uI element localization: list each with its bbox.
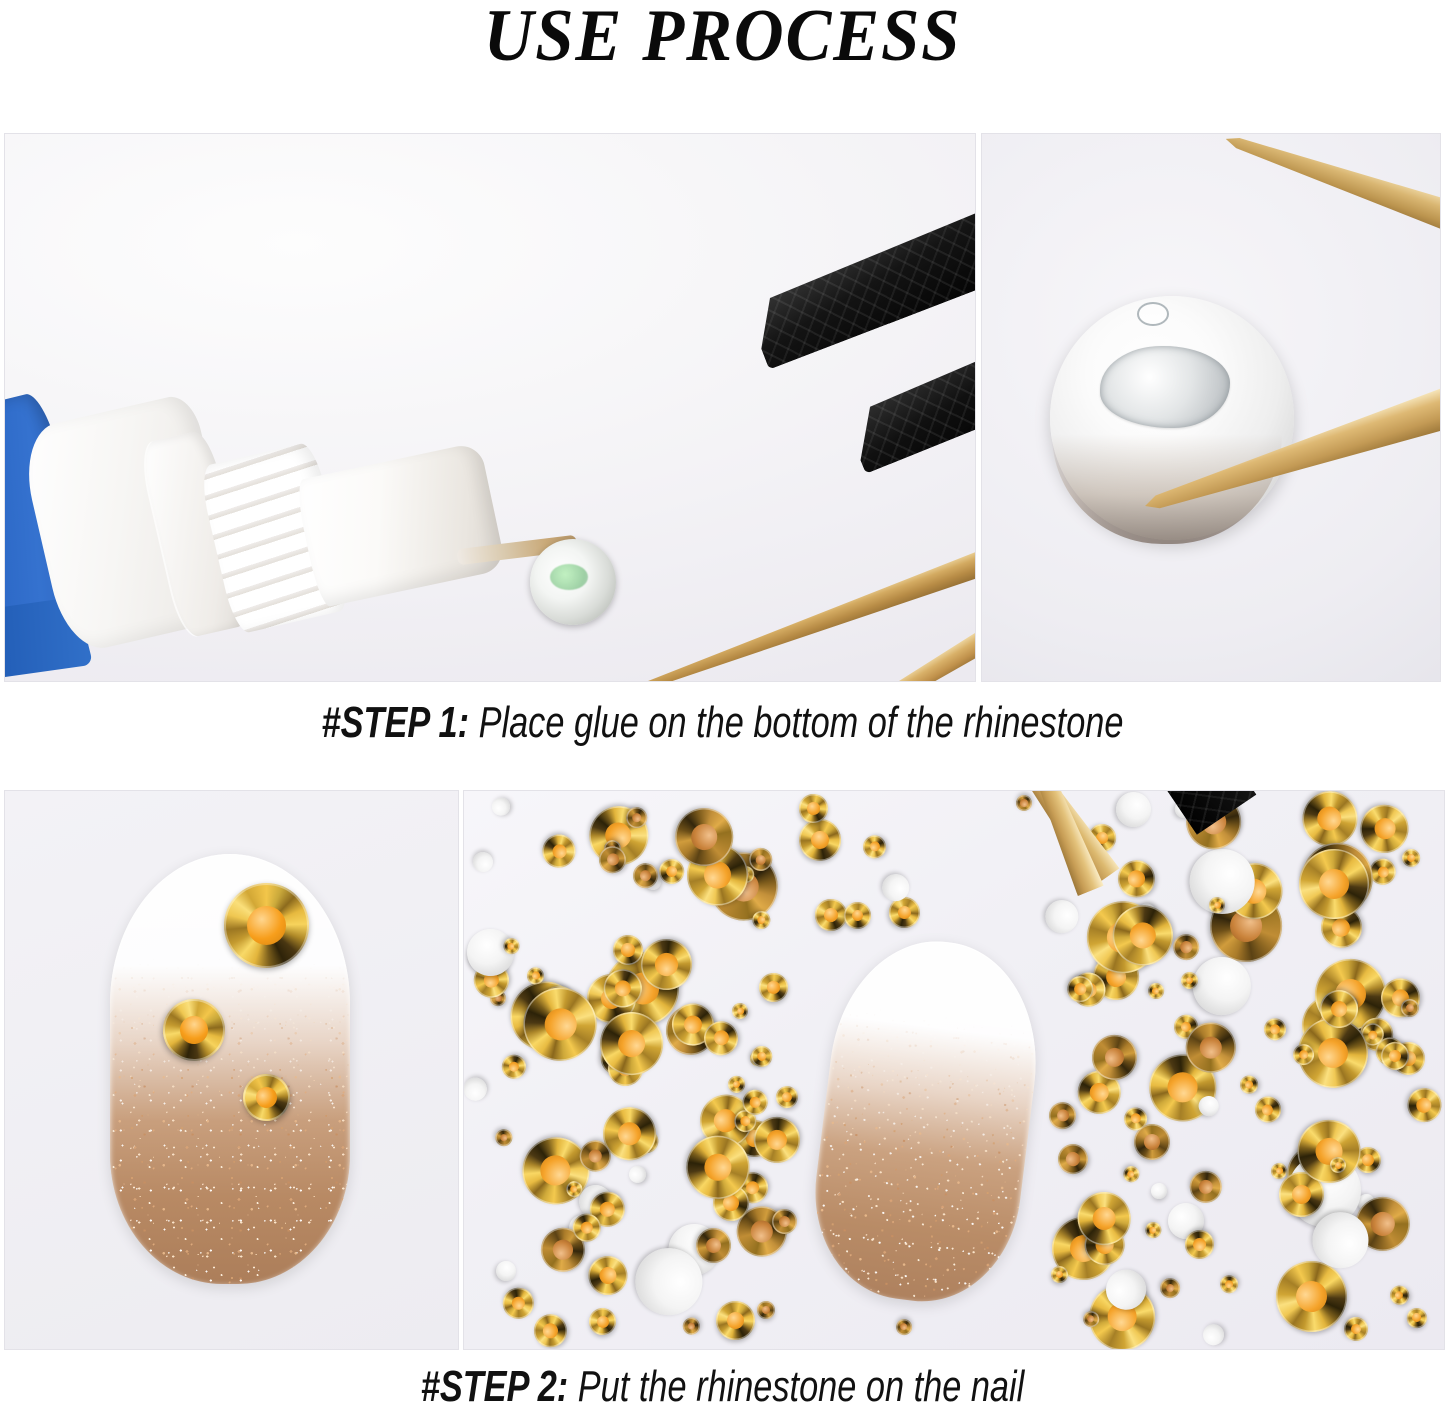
finished-nail-scene (5, 791, 458, 1349)
page-title: USE PROCESS (51, 0, 1395, 79)
step-2-label: #STEP 2: (421, 1362, 569, 1411)
step-1-text: Place glue on the bottom of the rhinesto… (469, 698, 1123, 747)
glitter-gradient (110, 954, 350, 1284)
step-1-caption: #STEP 1: Place glue on the bottom of the… (159, 698, 1286, 748)
rhinestone-closeup-scene (982, 134, 1440, 681)
rhinestone-icon (756, 1300, 775, 1319)
panel-rhinestone-scatter (463, 790, 1445, 1350)
glue-bubble-icon (1137, 302, 1169, 326)
panel-rhinestone-closeup (981, 133, 1441, 682)
panel-glue-bottle (4, 133, 976, 682)
glue-drop-icon (550, 564, 588, 590)
glue-bottle-scene (5, 134, 975, 681)
panel-finished-nail (4, 790, 459, 1350)
step-1-label: #STEP 1: (322, 698, 470, 747)
step-2-caption: #STEP 2: Put the rhinestone on the nail (159, 1362, 1286, 1412)
glitter-gradient (803, 999, 1042, 1312)
rhinestone-icon (224, 883, 309, 968)
glue-drop-icon (1100, 346, 1230, 428)
rhinestone-back-icon (1150, 1182, 1167, 1199)
rhinestone-icon (896, 1319, 912, 1335)
step-2-text: Put the rhinestone on the nail (568, 1362, 1024, 1411)
rhinestone-scatter-scene (464, 791, 1444, 1349)
